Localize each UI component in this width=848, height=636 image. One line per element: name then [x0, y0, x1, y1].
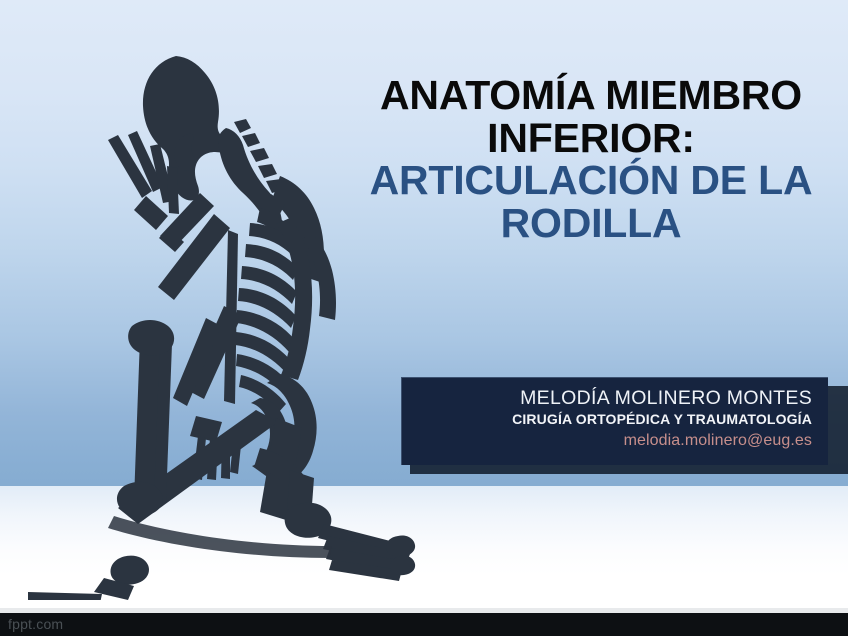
- title-line-2: INFERIOR:: [352, 117, 830, 160]
- title-line-3: ARTICULACIÓN DE LA: [352, 159, 830, 202]
- presentation-slide: ANATOMÍA MIEMBRO INFERIOR: ARTICULACIÓN …: [0, 0, 848, 636]
- page-title: ANATOMÍA MIEMBRO INFERIOR: ARTICULACIÓN …: [352, 74, 830, 245]
- footer-bar: [0, 613, 848, 636]
- author-name: MELODÍA MOLINERO MONTES: [402, 387, 812, 410]
- title-line-1: ANATOMÍA MIEMBRO: [352, 74, 830, 117]
- author-role: CIRUGÍA ORTOPÉDICA Y TRAUMATOLOGÍA: [402, 410, 812, 429]
- author-panel: MELODÍA MOLINERO MONTES CIRUGÍA ORTOPÉDI…: [401, 377, 828, 465]
- footer-watermark: fppt.com: [8, 616, 63, 632]
- author-email[interactable]: melodia.molinero@eug.es: [402, 429, 812, 453]
- title-line-4: RODILLA: [352, 202, 830, 245]
